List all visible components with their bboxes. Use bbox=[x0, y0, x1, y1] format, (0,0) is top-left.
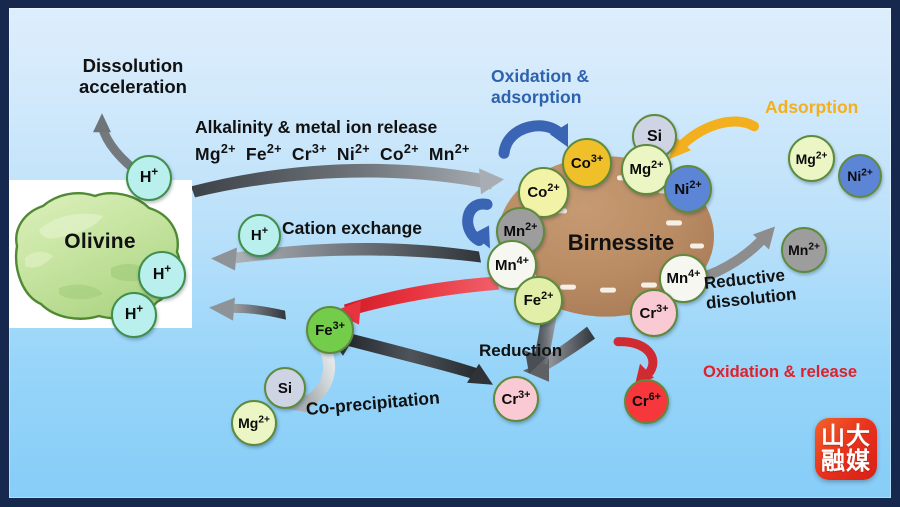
ion-label: Fe2+ bbox=[524, 293, 554, 308]
ion-label: H+ bbox=[140, 170, 158, 186]
ion-label: H+ bbox=[153, 267, 171, 283]
ion-label: Fe3+ bbox=[315, 323, 345, 338]
figure-frame: Olivine bbox=[0, 0, 900, 507]
adsorption-label: Adsorption bbox=[765, 98, 858, 118]
ion-label: Mn2+ bbox=[788, 243, 820, 257]
ion-bubble-ni-ads: Ni2+ bbox=[838, 154, 882, 198]
ion-label: Cr3+ bbox=[502, 392, 531, 407]
figure-canvas: Olivine bbox=[9, 8, 891, 498]
dissolution-acceleration-label: Dissolutionacceleration bbox=[53, 56, 213, 97]
dissolution-acceleration-line-2: acceleration bbox=[53, 77, 213, 98]
ion-bubble-h-top: H+ bbox=[126, 155, 172, 201]
ion-label: Mg2+ bbox=[238, 416, 270, 430]
ion-bubble-cr3b: Cr3+ bbox=[630, 289, 678, 337]
released-ion-cr: Cr3+ bbox=[292, 144, 327, 164]
oxidation-adsorption-line-2: adsorption bbox=[491, 87, 621, 108]
ion-bubble-h-bottom: H+ bbox=[111, 292, 157, 338]
ion-bubble-h-right: H+ bbox=[138, 251, 186, 299]
ion-bubble-si-cp: Si bbox=[264, 367, 306, 409]
ion-label: Mg2+ bbox=[796, 152, 828, 166]
ion-label: Co3+ bbox=[571, 156, 603, 171]
ion-bubble-fe3: Fe3+ bbox=[306, 306, 354, 354]
ion-label: H+ bbox=[125, 307, 143, 323]
ion-label: Cr6+ bbox=[632, 394, 661, 409]
released-ions-label: Mg2+Fe2+Cr3+Ni2+Co2+Mn2+ bbox=[195, 142, 480, 164]
ion-label: Mn4+ bbox=[495, 258, 529, 273]
ion-label: H+ bbox=[251, 228, 268, 243]
ion-bubble-mg-ads: Mg2+ bbox=[788, 135, 835, 182]
birnessite-label: Birnessite bbox=[556, 230, 686, 256]
ion-label: Si bbox=[647, 129, 662, 145]
ion-label: Mn4+ bbox=[667, 271, 701, 286]
olivine-label: Olivine bbox=[35, 230, 165, 254]
ion-label: Cr3+ bbox=[640, 306, 669, 321]
released-ion-mg: Mg2+ bbox=[195, 144, 236, 164]
ion-label: Ni2+ bbox=[847, 169, 873, 183]
released-ion-mn: Mn2+ bbox=[429, 144, 470, 164]
oxidation-release-label: Oxidation & release bbox=[703, 363, 857, 381]
reduction-label: Reduction bbox=[479, 341, 562, 360]
ion-bubble-fe2: Fe2+ bbox=[514, 276, 563, 325]
cation-exchange-label: Cation exchange bbox=[282, 219, 422, 239]
ion-bubble-mg-cp: Mg2+ bbox=[231, 400, 277, 446]
ion-label: Co2+ bbox=[527, 185, 559, 200]
released-ion-ni: Ni2+ bbox=[337, 144, 370, 164]
ion-bubble-cr6: Cr6+ bbox=[624, 379, 669, 424]
ion-bubble-co3: Co3+ bbox=[562, 138, 612, 188]
released-ion-fe: Fe2+ bbox=[246, 144, 282, 164]
ion-label: Mg2+ bbox=[630, 162, 664, 177]
oxidation-adsorption-line-1: Oxidation & bbox=[491, 66, 621, 87]
ion-bubble-ni: Ni2+ bbox=[664, 165, 712, 213]
ion-bubble-cr3: Cr3+ bbox=[493, 376, 539, 422]
dissolution-acceleration-line-1: Dissolution bbox=[53, 56, 213, 77]
released-ion-co: Co2+ bbox=[380, 144, 419, 164]
logo-line-2: 融媒 bbox=[821, 449, 871, 474]
oxidation-adsorption-label: Oxidation &adsorption bbox=[491, 66, 621, 107]
ion-label: Mn2+ bbox=[504, 224, 538, 239]
publisher-logo: 山大 融媒 bbox=[815, 418, 877, 480]
ion-bubble-h-exch: H+ bbox=[238, 214, 281, 257]
ion-label: Ni2+ bbox=[674, 182, 701, 197]
alkalinity-release-label: Alkalinity & metal ion release bbox=[195, 118, 437, 138]
logo-line-1: 山大 bbox=[821, 424, 871, 449]
ion-label: Si bbox=[278, 381, 292, 396]
